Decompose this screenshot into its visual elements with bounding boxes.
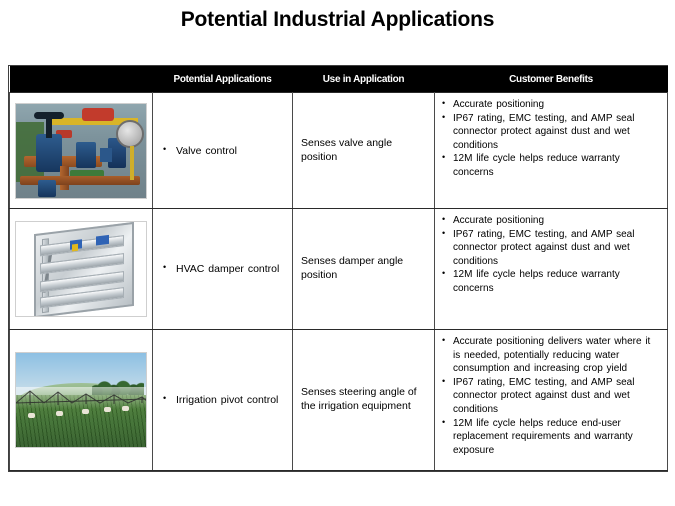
benefit-item: Accurate positioning delivers water wher…	[441, 335, 660, 376]
benefit-item: Accurate positioning	[441, 214, 660, 228]
column-header-use: Use in Application	[293, 66, 435, 93]
application-label: HVAC damper control	[163, 263, 279, 275]
benefits-list: Accurate positioning IP67 rating, EMC te…	[441, 98, 660, 180]
row-use-cell: Senses valve angle position	[293, 93, 435, 209]
column-header-image	[10, 66, 153, 93]
row-application-cell: Irrigation pivot control	[153, 330, 293, 471]
benefits-list: Accurate positioning delivers water wher…	[441, 335, 660, 457]
row-image-cell	[10, 209, 153, 330]
row-application-cell: HVAC damper control	[153, 209, 293, 330]
benefit-item: 12M life cycle helps reduce warranty con…	[441, 268, 660, 295]
table-header-row: Potential Applications Use in Applicatio…	[10, 66, 668, 93]
irrigation-pivot-photo	[15, 352, 147, 448]
table-row: Irrigation pivot control Senses steering…	[10, 330, 668, 471]
column-header-applications: Potential Applications	[153, 66, 293, 93]
row-benefits-cell: Accurate positioning delivers water wher…	[435, 330, 668, 471]
table-body: Valve control Senses valve angle positio…	[10, 93, 668, 471]
table-header: Potential Applications Use in Applicatio…	[10, 66, 668, 93]
benefit-item: 12M life cycle helps reduce warranty con…	[441, 152, 660, 179]
slide: Potential Industrial Applications Potent…	[0, 0, 675, 506]
application-label: Irrigation pivot control	[163, 394, 278, 406]
benefit-item: IP67 rating, EMC testing, and AMP seal c…	[441, 112, 660, 153]
column-header-benefits: Customer Benefits	[435, 66, 668, 93]
row-use-cell: Senses damper angle position	[293, 209, 435, 330]
row-image-cell	[10, 93, 153, 209]
applications-table: Potential Applications Use in Applicatio…	[9, 66, 668, 471]
row-image-cell	[10, 330, 153, 471]
applications-table-container: Potential Applications Use in Applicatio…	[8, 65, 668, 472]
benefit-item: IP67 rating, EMC testing, and AMP seal c…	[441, 376, 660, 417]
valve-piping-photo	[15, 103, 147, 199]
hvac-damper-photo	[15, 221, 147, 317]
row-application-cell: Valve control	[153, 93, 293, 209]
benefits-list: Accurate positioning IP67 rating, EMC te…	[441, 214, 660, 296]
table-row: HVAC damper control Senses damper angle …	[10, 209, 668, 330]
row-benefits-cell: Accurate positioning IP67 rating, EMC te…	[435, 93, 668, 209]
row-benefits-cell: Accurate positioning IP67 rating, EMC te…	[435, 209, 668, 330]
row-use-cell: Senses steering angle of the irrigation …	[293, 330, 435, 471]
benefit-item: Accurate positioning	[441, 98, 660, 112]
page-title: Potential Industrial Applications	[0, 8, 675, 32]
benefit-item: IP67 rating, EMC testing, and AMP seal c…	[441, 228, 660, 269]
application-label: Valve control	[163, 145, 237, 157]
table-row: Valve control Senses valve angle positio…	[10, 93, 668, 209]
benefit-item: 12M life cycle helps reduce end-user rep…	[441, 417, 660, 458]
